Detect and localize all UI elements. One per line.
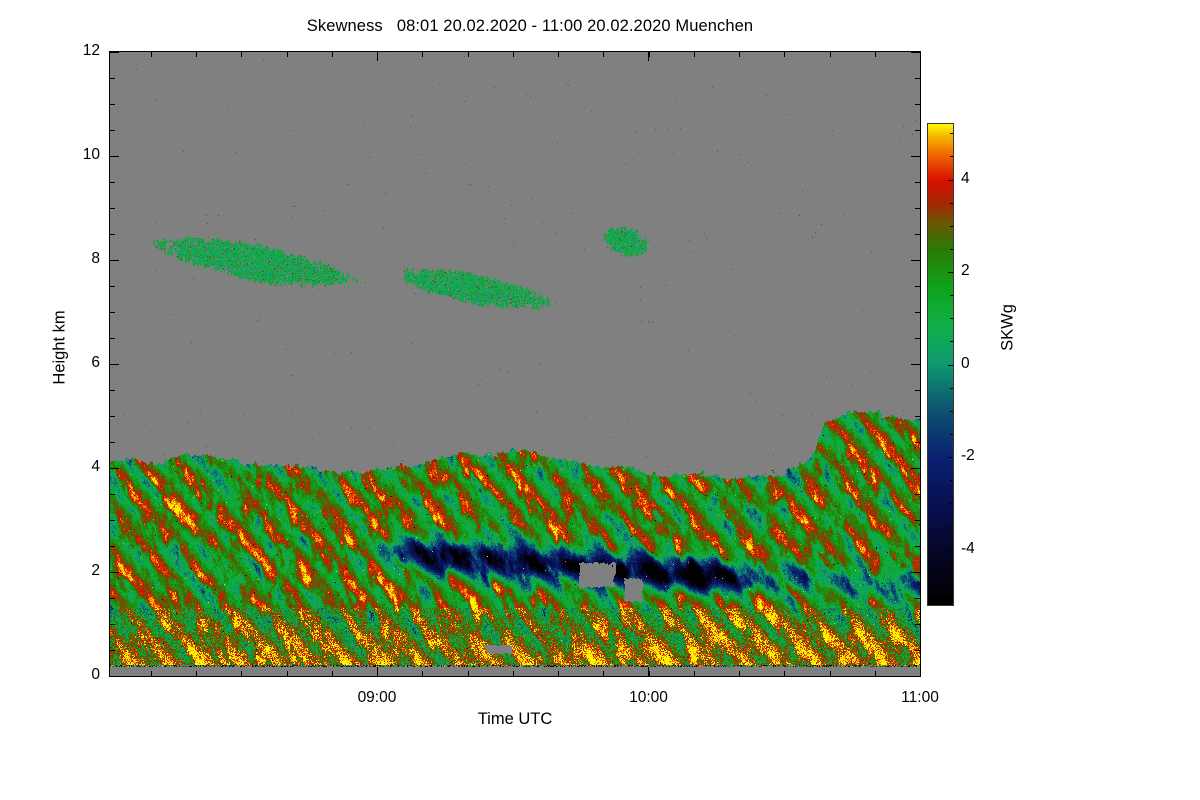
x-tick-minor-top xyxy=(603,52,604,57)
y-tick-minor xyxy=(110,208,115,209)
y-tick-major xyxy=(110,260,119,261)
colorbar-tick-label: 4 xyxy=(961,170,970,188)
colorbar-tick-minor xyxy=(950,573,953,574)
y-tick-minor xyxy=(110,234,115,235)
colorbar-tick-label: 2 xyxy=(961,262,970,280)
y-tick-minor xyxy=(110,546,115,547)
x-tick-label: 09:00 xyxy=(317,689,437,707)
y-tick-minor-right xyxy=(915,520,920,521)
y-tick-label: 4 xyxy=(42,458,100,476)
y-tick-minor-right xyxy=(915,546,920,547)
x-tick-major-top xyxy=(920,52,921,61)
y-tick-minor xyxy=(110,78,115,79)
y-tick-minor-right xyxy=(915,182,920,183)
y-tick-major-right xyxy=(911,572,920,573)
x-tick-minor xyxy=(875,671,876,676)
x-tick-minor-top xyxy=(875,52,876,57)
x-tick-minor-top xyxy=(649,52,650,57)
y-tick-minor xyxy=(110,104,115,105)
x-tick-minor xyxy=(784,671,785,676)
y-tick-minor-right xyxy=(915,624,920,625)
y-tick-minor-right xyxy=(915,390,920,391)
x-tick-minor xyxy=(468,671,469,676)
colorbar-tick-minor xyxy=(950,341,953,342)
x-tick-minor-top xyxy=(196,52,197,57)
colorbar-tick-minor xyxy=(950,388,953,389)
y-tick-minor-right xyxy=(915,104,920,105)
y-tick-minor xyxy=(110,494,115,495)
y-tick-major xyxy=(110,572,119,573)
colorbar-tick xyxy=(948,550,953,551)
x-tick-minor xyxy=(241,671,242,676)
x-tick-minor-top xyxy=(422,52,423,57)
x-tick-minor xyxy=(694,671,695,676)
colorbar-tick-minor xyxy=(950,526,953,527)
colorbar-tick xyxy=(948,457,953,458)
x-tick-minor-top xyxy=(287,52,288,57)
colorbar-tick-minor xyxy=(950,203,953,204)
x-tick-minor xyxy=(422,671,423,676)
x-tick-minor-top xyxy=(558,52,559,57)
x-tick-minor xyxy=(196,671,197,676)
y-tick-minor-right xyxy=(915,650,920,651)
figure-root: Skewness 08:01 20.02.2020 - 11:00 20.02.… xyxy=(0,0,1200,800)
y-tick-label: 10 xyxy=(42,146,100,164)
y-tick-major xyxy=(110,468,119,469)
y-tick-label: 2 xyxy=(42,562,100,580)
x-tick-minor xyxy=(603,671,604,676)
colorbar-tick-minor xyxy=(950,133,953,134)
y-tick-minor xyxy=(110,520,115,521)
x-tick-minor-top xyxy=(151,52,152,57)
x-tick-minor xyxy=(151,671,152,676)
y-tick-major xyxy=(110,364,119,365)
colorbar-tick-minor xyxy=(950,480,953,481)
y-tick-major-right xyxy=(911,676,920,677)
y-tick-minor-right xyxy=(915,442,920,443)
x-tick-minor xyxy=(830,671,831,676)
colorbar-tick-minor xyxy=(950,156,953,157)
colorbar-tick-label: -2 xyxy=(961,447,975,465)
x-tick-major xyxy=(920,667,921,676)
y-tick-major xyxy=(110,52,119,53)
y-tick-major-right xyxy=(911,468,920,469)
colorbar-tick-minor xyxy=(950,318,953,319)
skewness-heatmap xyxy=(110,52,920,676)
y-tick-minor-right xyxy=(915,494,920,495)
colorbar-title: SKWg xyxy=(999,268,1018,388)
x-tick-minor-top xyxy=(377,52,378,57)
x-tick-minor-top xyxy=(830,52,831,57)
y-tick-minor xyxy=(110,650,115,651)
y-tick-minor-right xyxy=(915,286,920,287)
colorbar-tick-label: 0 xyxy=(961,355,970,373)
y-tick-minor xyxy=(110,286,115,287)
y-tick-major-right xyxy=(911,364,920,365)
colorbar-tick-minor xyxy=(950,434,953,435)
colorbar-tick-minor xyxy=(950,249,953,250)
y-tick-minor-right xyxy=(915,130,920,131)
colorbar-tick xyxy=(948,272,953,273)
y-tick-minor xyxy=(110,416,115,417)
y-tick-major xyxy=(110,676,119,677)
y-tick-minor-right xyxy=(915,78,920,79)
x-tick-minor-top xyxy=(694,52,695,57)
x-tick-minor-top xyxy=(739,52,740,57)
y-tick-minor xyxy=(110,130,115,131)
y-tick-minor xyxy=(110,598,115,599)
y-tick-label: 12 xyxy=(42,42,100,60)
x-axis-title: Time UTC xyxy=(110,710,920,729)
y-tick-minor xyxy=(110,338,115,339)
y-tick-major-right xyxy=(911,260,920,261)
y-tick-minor xyxy=(110,624,115,625)
y-tick-label: 6 xyxy=(42,354,100,372)
x-tick-minor-top xyxy=(784,52,785,57)
x-tick-label: 10:00 xyxy=(588,689,708,707)
y-tick-label: 8 xyxy=(42,250,100,268)
x-tick-minor xyxy=(513,671,514,676)
x-tick-minor-top xyxy=(332,52,333,57)
y-tick-minor-right xyxy=(915,416,920,417)
y-tick-minor xyxy=(110,182,115,183)
y-tick-minor-right xyxy=(915,338,920,339)
y-tick-minor xyxy=(110,442,115,443)
y-tick-minor xyxy=(110,312,115,313)
y-tick-minor-right xyxy=(915,234,920,235)
colorbar-tick-minor xyxy=(950,411,953,412)
x-tick-minor-top xyxy=(241,52,242,57)
x-tick-label: 11:00 xyxy=(860,689,980,707)
y-axis-title: Height km xyxy=(51,268,70,428)
y-tick-label: 0 xyxy=(42,666,100,684)
y-tick-minor xyxy=(110,390,115,391)
x-tick-minor-top xyxy=(468,52,469,57)
colorbar-tick xyxy=(948,365,953,366)
colorbar-tick-minor xyxy=(950,295,953,296)
y-tick-major-right xyxy=(911,52,920,53)
x-tick-minor xyxy=(287,671,288,676)
y-tick-minor-right xyxy=(915,312,920,313)
x-tick-minor xyxy=(558,671,559,676)
colorbar-tick xyxy=(948,180,953,181)
x-tick-minor xyxy=(332,671,333,676)
x-tick-minor xyxy=(649,671,650,676)
y-tick-major-right xyxy=(911,156,920,157)
colorbar-tick-minor xyxy=(950,226,953,227)
x-tick-minor-top xyxy=(513,52,514,57)
colorbar-tick-minor xyxy=(950,503,953,504)
colorbar-tick-label: -4 xyxy=(961,540,975,558)
x-tick-minor xyxy=(739,671,740,676)
colorbar-tick-minor xyxy=(950,596,953,597)
x-tick-minor xyxy=(377,671,378,676)
y-tick-minor-right xyxy=(915,208,920,209)
page-title: Skewness 08:01 20.02.2020 - 11:00 20.02.… xyxy=(0,17,1060,36)
y-tick-major xyxy=(110,156,119,157)
y-tick-minor-right xyxy=(915,598,920,599)
